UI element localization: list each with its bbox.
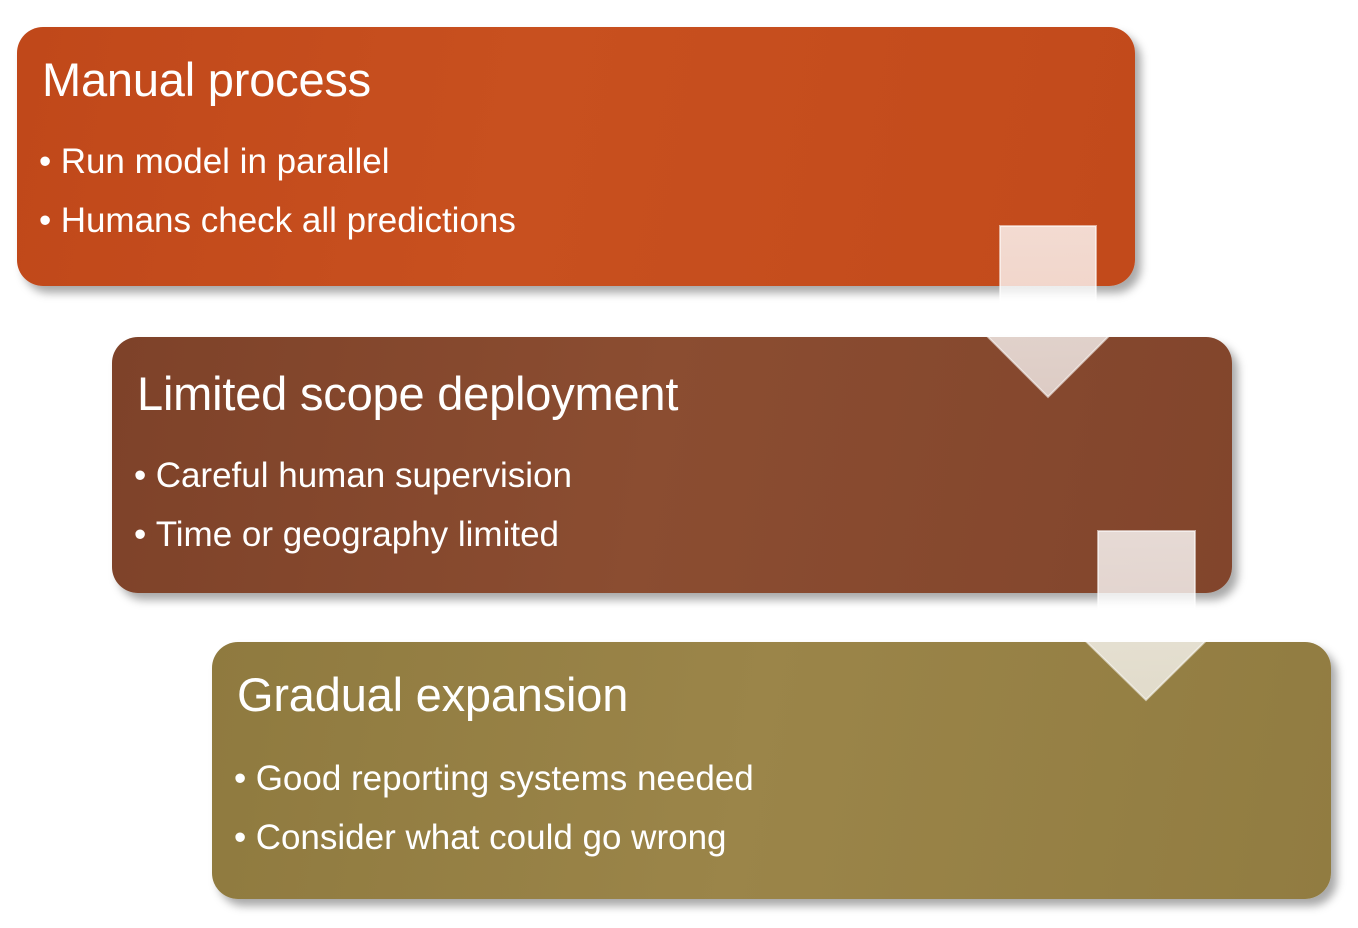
list-item: •Run model in parallel [39, 144, 1135, 179]
stage-bullet-list-gradual-expansion: •Good reporting systems needed •Consider… [212, 761, 1331, 879]
list-item: •Time or geography limited [134, 517, 1232, 552]
bullet-text: Consider what could go wrong [256, 818, 727, 857]
bullet-text: Run model in parallel [61, 142, 390, 181]
stage-title-limited-scope-deployment: Limited scope deployment [112, 369, 1232, 418]
stage-title-gradual-expansion: Gradual expansion [212, 670, 1331, 719]
stage-box-manual-process[interactable]: Manual process •Run model in parallel •H… [17, 27, 1135, 286]
stage-bullet-list-limited-scope-deployment: •Careful human supervision •Time or geog… [112, 458, 1232, 576]
list-item: •Careful human supervision [134, 458, 1232, 493]
list-item: •Good reporting systems needed [234, 761, 1331, 796]
bullet-text: Careful human supervision [156, 456, 572, 495]
stage-title-manual-process: Manual process [17, 55, 1135, 104]
bullet-dot-icon: • [134, 458, 156, 493]
stage-box-gradual-expansion[interactable]: Gradual expansion •Good reporting system… [212, 642, 1331, 899]
bullet-dot-icon: • [234, 820, 256, 855]
bullet-dot-icon: • [234, 761, 256, 796]
bullet-text: Good reporting systems needed [256, 759, 754, 798]
bullet-text: Humans check all predictions [61, 201, 516, 240]
stage-bullet-list-manual-process: •Run model in parallel •Humans check all… [17, 144, 1135, 262]
list-item: •Humans check all predictions [39, 203, 1135, 238]
diagram-canvas: Manual process •Run model in parallel •H… [0, 0, 1358, 928]
bullet-dot-icon: • [39, 144, 61, 179]
stage-box-limited-scope-deployment[interactable]: Limited scope deployment •Careful human … [112, 337, 1232, 593]
bullet-text: Time or geography limited [156, 515, 559, 554]
list-item: •Consider what could go wrong [234, 820, 1331, 855]
bullet-dot-icon: • [39, 203, 61, 238]
bullet-dot-icon: • [134, 517, 156, 552]
